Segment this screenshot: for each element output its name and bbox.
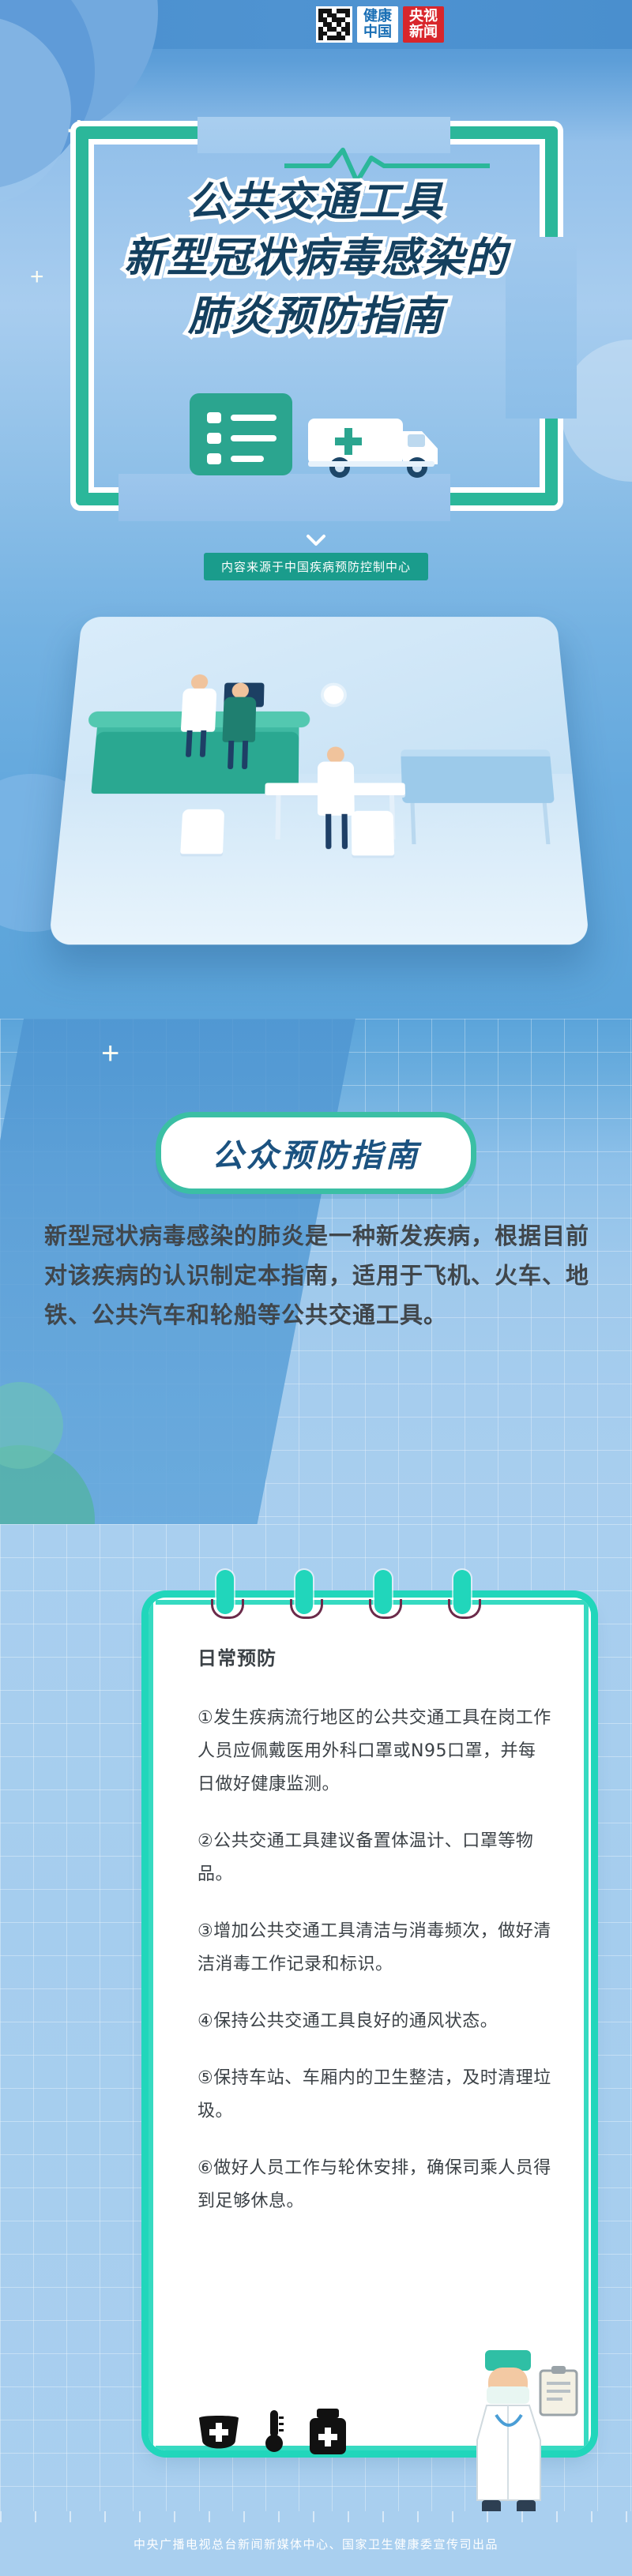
doctor-illustration bbox=[441, 2345, 599, 2511]
health-china-line2: 中国 bbox=[363, 24, 392, 40]
medical-icons bbox=[196, 2409, 349, 2454]
cctv-news-logo: 央视 新闻 bbox=[403, 6, 444, 43]
chair bbox=[180, 809, 224, 854]
prevention-title: 日常预防 bbox=[197, 1643, 553, 1670]
hero-title: 公共交通工具 新型冠状病毒感染的 肺炎预防指南 bbox=[0, 175, 632, 346]
footer-tick-pattern bbox=[0, 2511, 632, 2522]
binding-ring-icon bbox=[453, 1570, 471, 1614]
guide-heading-label: 公众预防指南 bbox=[212, 1138, 420, 1174]
spiral-binding bbox=[149, 1570, 591, 1625]
check-mark-icon bbox=[306, 534, 326, 546]
hero-section: + + × 公共交通工具 新型冠状病毒感染的 肺炎预防指南 内容来源于中国疾病预… bbox=[0, 0, 632, 1019]
clinic-scene-illustration bbox=[48, 617, 589, 944]
notes-section: 日常预防 ①发生疾病流行地区的公共交通工具在岗工作人员应佩戴医用外科口罩或N95… bbox=[0, 1524, 632, 2511]
nurse-cap-icon bbox=[196, 2413, 242, 2454]
title-line-2: 新型冠状病毒感染的 bbox=[0, 229, 632, 287]
thermometer-icon bbox=[262, 2409, 286, 2454]
binding-ring-icon bbox=[295, 1570, 313, 1614]
prevention-item: ②公共交通工具建议备置体温计、口罩等物品。 bbox=[197, 1825, 553, 1891]
prevention-item: ⑤保持车站、车厢内的卫生整洁，及时清理垃圾。 bbox=[197, 2062, 553, 2128]
footer-text: 中央广播电视总台新闻新媒体中心、国家卫生健康委宣传司出品 bbox=[134, 2536, 498, 2552]
prevention-content: 日常预防 ①发生疾病流行地区的公共交通工具在岗工作人员应佩戴医用外科口罩或N95… bbox=[197, 1643, 553, 2242]
brand-logo-bar: 健康 中国 央视 新闻 bbox=[316, 6, 444, 43]
guide-section: + 公众预防指南 新型冠状病毒感染的肺炎是一种新发疾病，根据目前对该疾病的认识制… bbox=[0, 1019, 632, 1564]
prevention-item: ①发生疾病流行地区的公共交通工具在岗工作人员应佩戴医用外科口罩或N95口罩，并每… bbox=[197, 1702, 553, 1801]
footer: 中央广播电视总台新闻新媒体中心、国家卫生健康委宣传司出品 bbox=[0, 2511, 632, 2576]
health-china-line1: 健康 bbox=[363, 8, 392, 24]
guide-body-text: 新型冠状病毒感染的肺炎是一种新发疾病，根据目前对该疾病的认识制定本指南，适用于飞… bbox=[44, 1216, 597, 1335]
ambulance-illustration bbox=[190, 379, 442, 498]
prevention-item: ④保持公共交通工具良好的通风状态。 bbox=[197, 2005, 553, 2038]
medicine-bottle-icon bbox=[307, 2409, 349, 2454]
prevention-item: ⑥做好人员工作与轮休安排，确保司乘人员得到足够休息。 bbox=[197, 2152, 553, 2218]
binding-ring-icon bbox=[216, 1570, 234, 1614]
plus-decor-icon: + bbox=[101, 1038, 119, 1069]
source-attribution: 内容来源于中国疾病预防控制中心 bbox=[204, 553, 428, 580]
cctv-news-line2: 新闻 bbox=[409, 24, 438, 40]
guide-heading: 公众预防指南 bbox=[156, 1112, 476, 1194]
health-china-logo: 健康 中国 bbox=[357, 6, 398, 43]
ceiling-lamp bbox=[324, 685, 344, 704]
chair bbox=[352, 811, 395, 856]
hospital-bed bbox=[401, 749, 555, 803]
title-line-1: 公共交通工具 bbox=[0, 175, 632, 229]
prevention-item: ③增加公共交通工具清洁与消毒频次，做好清洁消毒工作记录和标识。 bbox=[197, 1915, 553, 1981]
binding-ring-icon bbox=[374, 1570, 392, 1614]
qr-code-icon bbox=[316, 6, 352, 43]
title-line-3: 肺炎预防指南 bbox=[0, 287, 632, 346]
cctv-news-line1: 央视 bbox=[409, 8, 438, 24]
